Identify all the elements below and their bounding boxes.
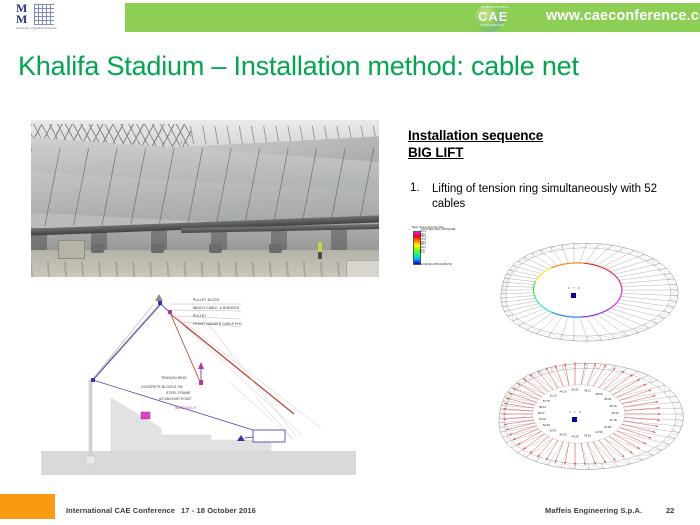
photo-site-container: [346, 260, 379, 277]
cae-logo-text: CAE: [478, 9, 524, 24]
svg-text:41.05: 41.05: [611, 411, 618, 415]
photo-machinery-2: [151, 244, 164, 253]
node-pulley-block: [158, 301, 162, 305]
fea-plot-cable-net: XYZ: [462, 232, 687, 352]
svg-text:51.84: 51.84: [604, 425, 611, 429]
svg-text:54.44: 54.44: [539, 417, 546, 421]
photo-ground-texture: [31, 262, 379, 277]
installation-sequence-heading: Installation sequence: [408, 128, 543, 143]
svg-text:48.19: 48.19: [610, 404, 617, 408]
schematic-label-concrete-blocks: CONCRETE BLOCKS ON: [141, 385, 183, 389]
svg-text:X: X: [568, 286, 570, 290]
trolley-marker: [237, 435, 245, 441]
svg-text:47.96: 47.96: [595, 430, 602, 434]
leader-line-2: [173, 310, 241, 311]
svg-text:49.07: 49.07: [538, 411, 545, 415]
svg-text:57.75: 57.75: [543, 399, 550, 403]
big-lift-heading: BIG LIFT: [408, 145, 463, 160]
schematic-strut-upper: [93, 304, 161, 380]
svg-text:61.15: 61.15: [550, 394, 557, 398]
node-pulley: [168, 310, 172, 314]
schematic-guy-2: [167, 310, 303, 436]
svg-text:Z: Z: [578, 286, 580, 290]
stadium-construction-photo: [31, 120, 379, 277]
conference-website-url[interactable]: www.caeconference.com: [546, 8, 700, 24]
svg-text:50.92: 50.92: [572, 388, 579, 392]
schematic-label-winch-cable: WINCH CABLE, 6 SHEAVES: [193, 306, 239, 310]
maffeis-logo: MM University of Applied Sciences: [16, 3, 56, 33]
footer-conference-name: International CAE Conference: [66, 506, 175, 515]
svg-text:38.60: 38.60: [595, 392, 602, 396]
svg-text:44.20: 44.20: [560, 390, 567, 394]
fea-plot-1-drawing: XYZ: [462, 232, 687, 352]
maffeis-logo-letters: MM: [16, 3, 33, 26]
svg-text:42.87: 42.87: [550, 428, 557, 432]
counterweight-box: [253, 430, 285, 442]
photo-machinery-4: [269, 244, 282, 253]
slide-title: Khalifa Stadium – Installation method: c…: [18, 51, 688, 82]
cae-logo: INTERNATIONAL CAE CONFERENCE: [470, 2, 528, 33]
schematic-mast-base: [86, 456, 95, 464]
svg-text:Y: Y: [574, 410, 576, 414]
fea-plot-cable-forces: 41.0562.7851.8447.9639.8144.2846.3342.87…: [455, 350, 690, 480]
winch-block: [141, 412, 150, 419]
fea-legend-tick: 41.8: [420, 252, 434, 255]
footer-page-number: 22: [666, 506, 674, 515]
photo-worker: [318, 242, 322, 258]
svg-text:39.81: 39.81: [584, 434, 591, 438]
fea-legend-tick-labels: 371.4 330.2 289.0 247.8 206.6 165.4 124.…: [420, 231, 434, 263]
leader-line-3: [177, 316, 241, 319]
photo-machinery-1: [91, 244, 104, 253]
node-top-anchor: [155, 294, 163, 301]
svg-text:52.60: 52.60: [543, 423, 550, 427]
svg-text:46.33: 46.33: [560, 432, 567, 436]
schematic-label-tension-ring: TENSION RING: [161, 376, 187, 380]
footer-company-name: Maffeis Engineering S.p.A.: [545, 506, 642, 515]
cae-logo-bottom-text: CONFERENCE: [480, 23, 504, 27]
footer-conference-date: 17 - 18 October 2016: [181, 506, 256, 515]
schematic-label-front-hanger-cable: FRONT HANGER CABLE FHC: [193, 322, 242, 326]
svg-text:62.78: 62.78: [610, 418, 617, 422]
svg-text:44.28: 44.28: [572, 434, 579, 438]
sequence-item-text: Lifting of tension ring simultaneously w…: [432, 182, 687, 212]
schematic-mast: [89, 380, 92, 458]
photo-concrete-block: [58, 240, 85, 259]
page-header: MM University of Applied Sciences INTERN…: [0, 0, 700, 33]
trolley-link: [245, 437, 253, 438]
sequence-item-number: 1.: [410, 182, 420, 194]
lifting-schematic-diagram: PULLEY BLOCK WINCH CABLE, 6 SHEAVES PULL…: [41, 288, 356, 475]
tension-ring-arrow-head: [198, 362, 204, 369]
schematic-label-pulley: PULLEY: [193, 314, 207, 318]
svg-text:45.11: 45.11: [584, 388, 591, 392]
fea-plot-2-drawing: 41.0562.7851.8447.9639.8144.2846.3342.87…: [455, 350, 690, 480]
fea-legend-min-label: 19.26 [Elm 28716 84.366 52]: [421, 263, 452, 266]
maffeis-logo-subtitle: University of Applied Sciences: [16, 27, 56, 32]
photo-machinery-3: [209, 244, 222, 253]
schematic-label-steel-frame: STEEL FRAME: [166, 391, 191, 395]
schematic-label-winch: WINCH A.I.H: [175, 406, 196, 410]
schematic-label-anchor-point: AS ANCHOR POINT: [159, 397, 192, 401]
schematic-label-pulley-block: PULLEY BLOCK: [193, 298, 220, 302]
node-mast-base-joint: [91, 378, 95, 382]
footer-accent-block: [0, 494, 55, 519]
photo-stand-seams: [31, 148, 379, 226]
schematic-mast-arm-2: [91, 305, 153, 381]
svg-text:55.32: 55.32: [604, 397, 611, 401]
svg-text:Y: Y: [573, 286, 575, 290]
svg-text:58.13: 58.13: [539, 405, 546, 409]
node-tension-ring: [199, 380, 203, 385]
schematic-mast-arm: [91, 305, 159, 381]
maffeis-logo-grid-icon: [34, 4, 54, 25]
svg-text:X: X: [569, 410, 571, 414]
